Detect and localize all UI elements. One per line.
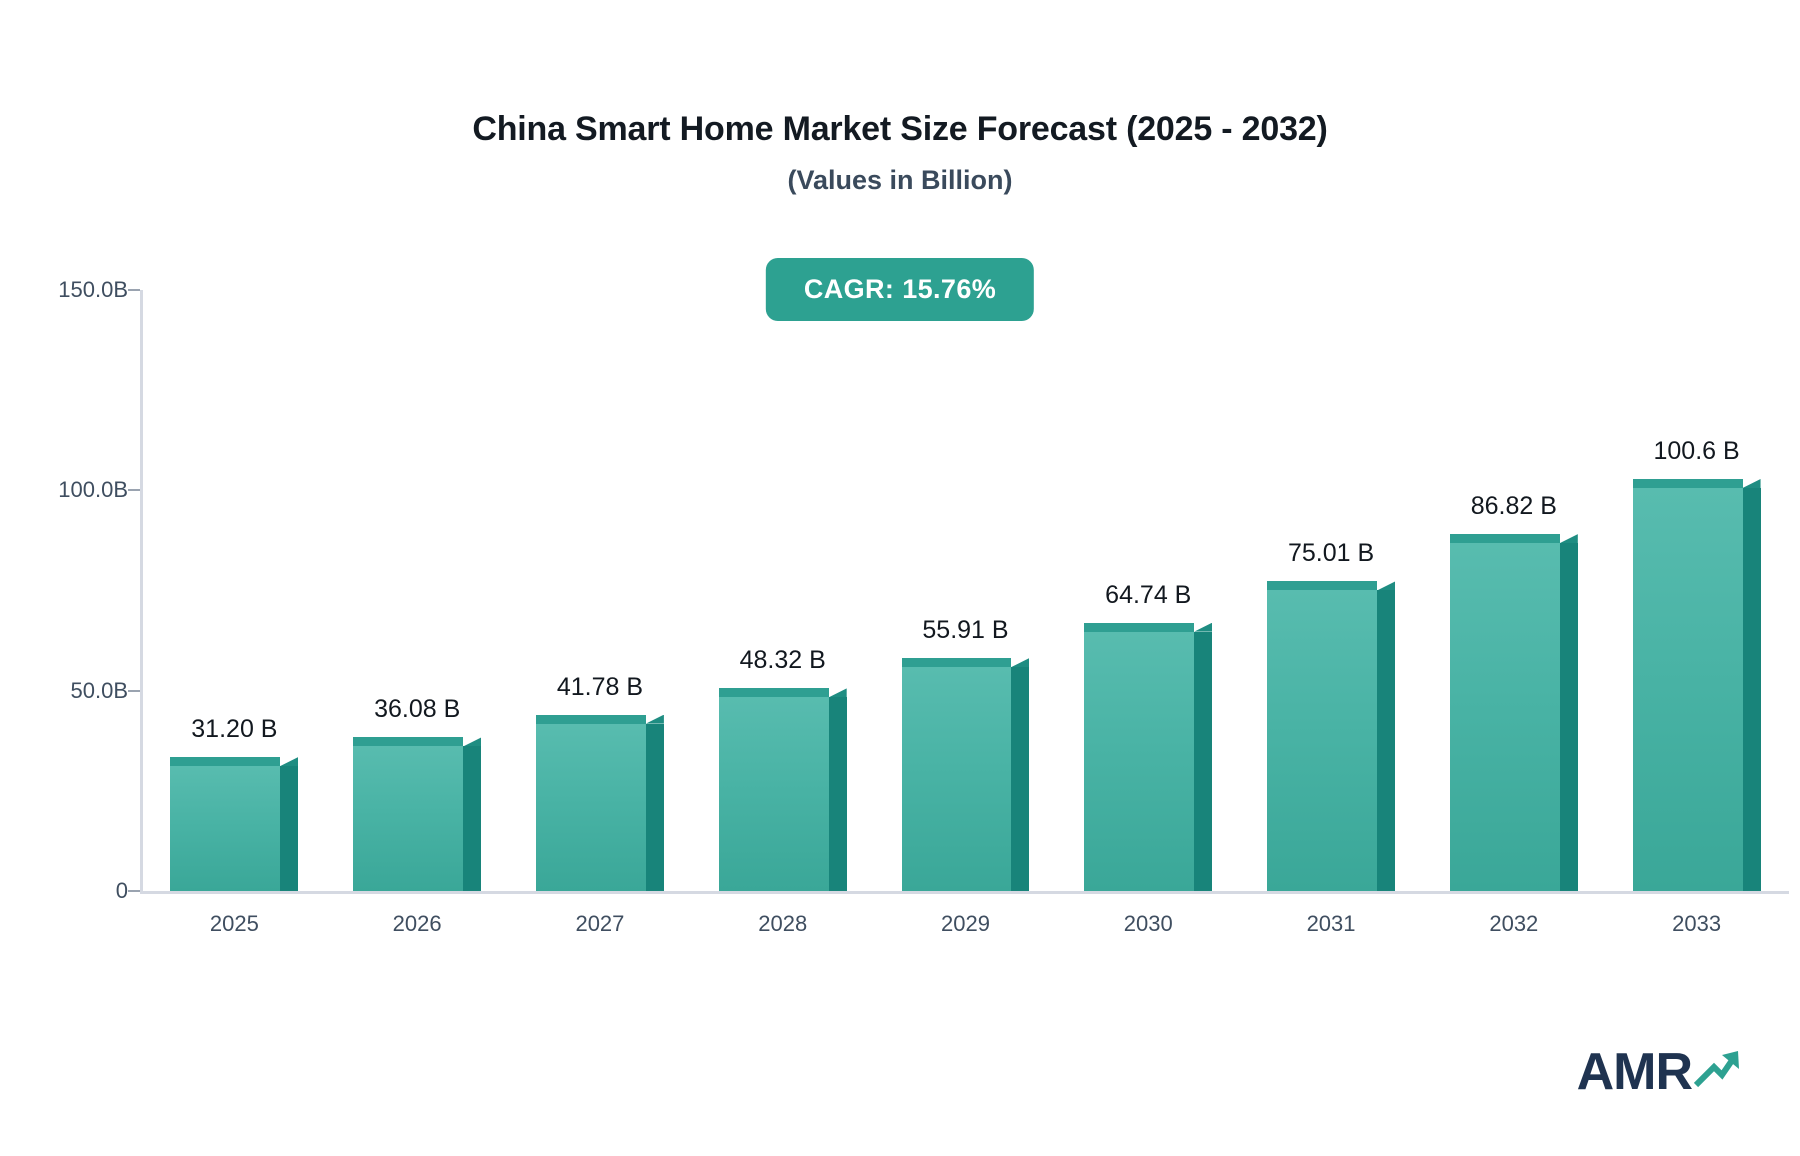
bar-top-corner: [829, 688, 847, 697]
x-axis-tick-label: 2029: [874, 911, 1057, 937]
bar-column[interactable]: 75.01 B: [1267, 290, 1395, 891]
bar-side-face: [1743, 488, 1761, 891]
bar-top-corner: [463, 737, 481, 746]
bar-side-face: [463, 746, 481, 891]
bar-top-corner: [1377, 581, 1395, 590]
bar-column[interactable]: 55.91 B: [902, 290, 1030, 891]
bar-top-face: [353, 737, 463, 746]
bar-value-label: 64.74 B: [1084, 581, 1212, 610]
bar-top-corner: [1194, 623, 1212, 632]
y-axis-tick-label: 0: [0, 878, 128, 904]
bar-series: 31.20 B36.08 B41.78 B48.32 B55.91 B64.74…: [143, 290, 1788, 891]
bar-side-face: [1194, 632, 1212, 891]
x-axis-tick-label: 2032: [1422, 911, 1605, 937]
x-axis-tick-label: 2025: [143, 911, 326, 937]
x-axis-tick-label: 2031: [1240, 911, 1423, 937]
bar-front-face: [1084, 632, 1194, 891]
bar-side-face: [280, 766, 298, 891]
bar-column[interactable]: 86.82 B: [1450, 290, 1578, 891]
y-axis-tick-mark: [128, 289, 140, 291]
bar-column[interactable]: 41.78 B: [536, 290, 664, 891]
bar-top-corner: [280, 757, 298, 766]
bar-side-face: [1011, 667, 1029, 891]
bar-value-label: 36.08 B: [353, 695, 481, 724]
bar-top-face: [1450, 534, 1560, 543]
bar[interactable]: [353, 746, 481, 891]
bar-top-face: [170, 757, 280, 766]
bar-front-face: [170, 766, 280, 891]
y-axis-tick-label: 50.0B: [0, 678, 128, 704]
bar-top-face: [1267, 581, 1377, 590]
bar-front-face: [1450, 543, 1560, 891]
bar-value-label: 31.20 B: [170, 715, 298, 744]
amr-logo: AMR: [1577, 1046, 1740, 1098]
bar-value-label: 48.32 B: [719, 646, 847, 675]
x-axis-tick-label: 2027: [509, 911, 692, 937]
bar-value-label: 41.78 B: [536, 673, 664, 702]
bar-value-label: 100.6 B: [1633, 437, 1761, 466]
chart-page: China Smart Home Market Size Forecast (2…: [0, 0, 1800, 1156]
bar-side-face: [646, 724, 664, 891]
bar-front-face: [719, 697, 829, 891]
bar-front-face: [1633, 488, 1743, 891]
y-axis-tick-label: 150.0B: [0, 277, 128, 303]
bar-top-corner: [646, 715, 664, 724]
bar-top-face: [1633, 479, 1743, 488]
bar-front-face: [353, 746, 463, 891]
bar[interactable]: [170, 766, 298, 891]
bar-top-face: [536, 715, 646, 724]
bar-column[interactable]: 31.20 B: [170, 290, 298, 891]
y-axis-tick-mark: [128, 489, 140, 491]
bar-side-face: [1560, 543, 1578, 891]
x-axis-tick-label: 2028: [691, 911, 874, 937]
bar-front-face: [902, 667, 1012, 891]
bar[interactable]: [1633, 488, 1761, 891]
bar[interactable]: [1267, 590, 1395, 891]
logo-text: AMR: [1577, 1046, 1692, 1098]
bar-column[interactable]: 48.32 B: [719, 290, 847, 891]
bar-column[interactable]: 36.08 B: [353, 290, 481, 891]
bar[interactable]: [719, 697, 847, 891]
x-axis-tick-label: 2033: [1605, 911, 1788, 937]
x-axis-tick-label: 2030: [1057, 911, 1240, 937]
chart-plot-area: 050.0B100.0B150.0B 31.20 B36.08 B41.78 B…: [0, 0, 1800, 1156]
bar-front-face: [536, 724, 646, 891]
bar-side-face: [829, 697, 847, 891]
bar-top-face: [719, 688, 829, 697]
bar-top-corner: [1743, 479, 1761, 488]
bar-side-face: [1377, 590, 1395, 891]
bar-top-corner: [1011, 658, 1029, 667]
bar[interactable]: [1450, 543, 1578, 891]
bar-value-label: 55.91 B: [902, 616, 1030, 645]
bar-column[interactable]: 100.6 B: [1633, 290, 1761, 891]
growth-arrow-icon: [1694, 1049, 1740, 1094]
bar-top-face: [902, 658, 1012, 667]
x-axis-line: [140, 891, 1789, 894]
y-axis-tick-mark: [128, 890, 140, 892]
bar-value-label: 86.82 B: [1450, 492, 1578, 521]
bar-top-face: [1084, 623, 1194, 632]
bar-value-label: 75.01 B: [1267, 539, 1395, 568]
bar[interactable]: [902, 667, 1030, 891]
bar[interactable]: [1084, 632, 1212, 891]
bar-front-face: [1267, 590, 1377, 891]
y-axis-tick-label: 100.0B: [0, 477, 128, 503]
bar[interactable]: [536, 724, 664, 891]
y-axis-tick-mark: [128, 690, 140, 692]
x-axis-tick-label: 2026: [326, 911, 509, 937]
bar-top-corner: [1560, 534, 1578, 543]
bar-column[interactable]: 64.74 B: [1084, 290, 1212, 891]
